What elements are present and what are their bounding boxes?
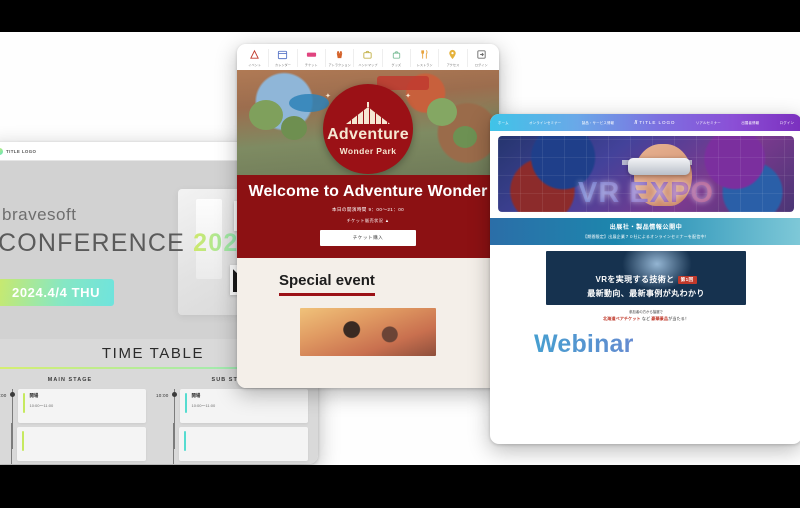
vr-note-middle: など (641, 316, 652, 321)
restaurant-icon (419, 49, 430, 60)
theme-park-site-mockup[interactable]: イベント カレンダー チケット アトラクション ハンドマップ (237, 44, 499, 388)
attraction-icon (249, 49, 260, 60)
vr-nav-item-exhibitors[interactable]: 出展者情報 (741, 120, 759, 125)
timetable-column-sub: SUB STAGE 10:00 開場 10:00〜11:00 11:00 (156, 377, 308, 461)
nav-item-restaurant[interactable]: レストラン (411, 49, 439, 67)
composition-canvas: TITLE LOGO HOME bravesoft CONFERENCE 202… (0, 32, 800, 465)
timeline-axis (10, 389, 15, 423)
nav-label: カレンダー (275, 62, 291, 67)
timetable-column-main: MAIN STAGE 10:00 開場 10:00〜11:00 11:00 (0, 377, 146, 461)
timeline-axis (171, 423, 176, 461)
hero-tree (427, 98, 457, 126)
shop-icon (391, 49, 402, 60)
conference-brand: bravesoft (2, 205, 76, 225)
vr-nav-item-real-seminar[interactable]: リアルセミナー (696, 120, 721, 125)
hero-pool (289, 94, 329, 112)
nav-item-login[interactable]: ログイン (468, 49, 495, 67)
hero-tree (249, 100, 283, 130)
vr-nav-item-products[interactable]: 製品・サービス情報 (582, 120, 614, 125)
letterbox-bottom (0, 465, 800, 508)
special-event-image[interactable] (300, 308, 436, 356)
nav-label: アトラクション (328, 62, 350, 67)
nav-item-calendar[interactable]: カレンダー (269, 49, 297, 67)
timetable-row[interactable]: 10:00 開場 10:00〜11:00 (0, 389, 146, 423)
conference-title: CONFERENCE 2024 (0, 229, 254, 258)
session-accent-bar (23, 393, 25, 413)
ticket-status-text[interactable]: チケット販売状況 ▲ (237, 218, 499, 224)
vr-band-line1: 出展社・製品情報公開中 (490, 222, 800, 231)
session-title: 開場 (185, 393, 304, 399)
nav-item-map[interactable]: ハンドマップ (354, 49, 382, 67)
session-accent-bar (185, 393, 187, 413)
park-welcome-heading: Welcome to Adventure Wonder (237, 183, 499, 201)
vr-nav-item-home[interactable]: ホーム (498, 120, 509, 125)
vr-nav-item-online-seminar[interactable]: オンラインセミナー (529, 120, 561, 125)
seminar-chip-badge: 第1回 (678, 276, 697, 284)
special-event-section: Special event (237, 258, 499, 388)
seminar-line1: VRを実現する技術と第1回 (546, 274, 746, 285)
nav-label: レストラン (417, 62, 433, 67)
vr-note-highlight2: 豪華景品 (651, 316, 668, 321)
nav-item-attractions[interactable]: アトラクション (326, 49, 354, 67)
slash-icon: // (635, 120, 638, 126)
session-card[interactable]: 開場 10:00〜11:00 (180, 389, 309, 423)
webinar-heading: Webinar (490, 330, 800, 359)
calendar-icon (277, 49, 288, 60)
vr-nav-item-login[interactable]: ログイン (780, 120, 794, 125)
nav-item-access[interactable]: アクセス (439, 49, 467, 67)
session-card[interactable] (17, 427, 146, 461)
popcorn-icon (334, 49, 345, 60)
nav-label: ログイン (475, 62, 488, 67)
vr-note-highlight: 北海道ペアチケット (603, 316, 641, 321)
session-card[interactable]: 開場 10:00〜11:00 (18, 389, 147, 423)
session-range: 10:00〜11:00 (185, 403, 304, 409)
nav-item-goods[interactable]: グッズ (383, 49, 411, 67)
hero-tree (453, 126, 477, 148)
park-opening-hours: 本日の開演時間 9：00〜21：00 (237, 207, 499, 213)
buy-ticket-button[interactable]: チケット購入 (320, 230, 416, 246)
nav-label: グッズ (392, 62, 402, 67)
session-accent-bar (184, 431, 186, 451)
vr-seminar-card[interactable]: VRを実現する技術と第1回 最新動向、最新事例が丸わかり (546, 251, 746, 305)
vr-note-tail: が当たる！ (668, 316, 689, 321)
vr-nav[interactable]: ホーム オンラインセミナー 製品・サービス情報 // TITLE LOGO リア… (490, 114, 800, 131)
hero-tree (281, 116, 307, 140)
special-event-heading: Special event (279, 272, 375, 296)
timetable-row[interactable]: 11:00 (0, 423, 146, 461)
ticket-icon (306, 49, 317, 60)
timeline-dot-icon (10, 392, 15, 397)
vr-logo-text: TITLE LOGO (639, 120, 675, 125)
vr-expo-title: VR EXPO (498, 177, 794, 210)
conference-logo-text: TITLE LOGO (6, 149, 36, 154)
session-range: 10:00〜11:00 (23, 403, 142, 409)
seminar-glow (622, 251, 692, 291)
conference-logo[interactable]: TITLE LOGO (0, 148, 36, 155)
seminar-line1-text: VRを実現する技術と (595, 275, 674, 284)
bag-icon (362, 49, 373, 60)
nav-label: アクセス (447, 62, 460, 67)
screenshot-stage: TITLE LOGO HOME bravesoft CONFERENCE 202… (0, 0, 800, 508)
vr-note-line2: 北海道ペアチケット など 豪華景品が当たる！ (490, 316, 800, 322)
stage-label-main: MAIN STAGE (0, 377, 146, 383)
session-title: 開場 (23, 393, 142, 399)
star-icon: ✦ (405, 92, 411, 100)
timetable-row[interactable]: 11:00 (156, 423, 308, 461)
session-accent-bar (22, 431, 24, 451)
vr-logo[interactable]: // TITLE LOGO (635, 120, 676, 126)
conference-title-main: CONFERENCE (0, 229, 185, 257)
nav-item-ticket[interactable]: チケット (298, 49, 326, 67)
vr-headset-icon (628, 158, 690, 175)
vr-note-line1: 参加者の方から抽選で (490, 309, 800, 314)
park-logo-line2: Wonder Park (340, 146, 397, 156)
tent-icon (346, 102, 390, 124)
park-logo-line1: Adventure (327, 127, 409, 143)
nav-label: チケット (305, 62, 318, 67)
slot-time: 10:00 (0, 389, 7, 398)
pin-icon (447, 49, 458, 60)
vr-hero-image: VR EXPO (498, 136, 794, 212)
conference-date-badge: 2024.4/4 THU (0, 279, 114, 306)
timetable-row[interactable]: 10:00 開場 10:00〜11:00 (156, 389, 308, 423)
park-hero-image: ✦ ✦ Adventure Wonder Park (237, 70, 499, 175)
logo-mark-icon (0, 148, 3, 155)
timeline-axis (172, 389, 177, 423)
letterbox-top (0, 0, 800, 32)
nav-label: イベント (248, 62, 261, 67)
park-logo-badge: ✦ ✦ Adventure Wonder Park (323, 84, 413, 174)
timeline-axis (9, 423, 14, 461)
park-nav[interactable]: イベント カレンダー チケット アトラクション ハンドマップ (237, 44, 499, 70)
session-card[interactable] (179, 427, 308, 461)
timeline-dot-icon (172, 392, 177, 397)
nav-item-events[interactable]: イベント (241, 49, 269, 67)
slot-time: 10:00 (156, 389, 169, 398)
seminar-line2: 最新動向、最新事例が丸わかり (546, 288, 746, 299)
vr-band-line2: 【期間限定】出展企業７０社によるオンラインセミナーを配信中！ (490, 234, 800, 240)
park-welcome-section: Welcome to Adventure Wonder 本日の開演時間 9：00… (237, 175, 499, 258)
nav-label: ハンドマップ (358, 62, 377, 67)
vr-info-band: 出展社・製品情報公開中 【期間限定】出展企業７０社によるオンラインセミナーを配信… (490, 218, 800, 245)
star-icon: ✦ (325, 92, 331, 100)
login-icon (476, 49, 487, 60)
vr-expo-site-mockup[interactable]: ホーム オンラインセミナー 製品・サービス情報 // TITLE LOGO リア… (490, 114, 800, 444)
